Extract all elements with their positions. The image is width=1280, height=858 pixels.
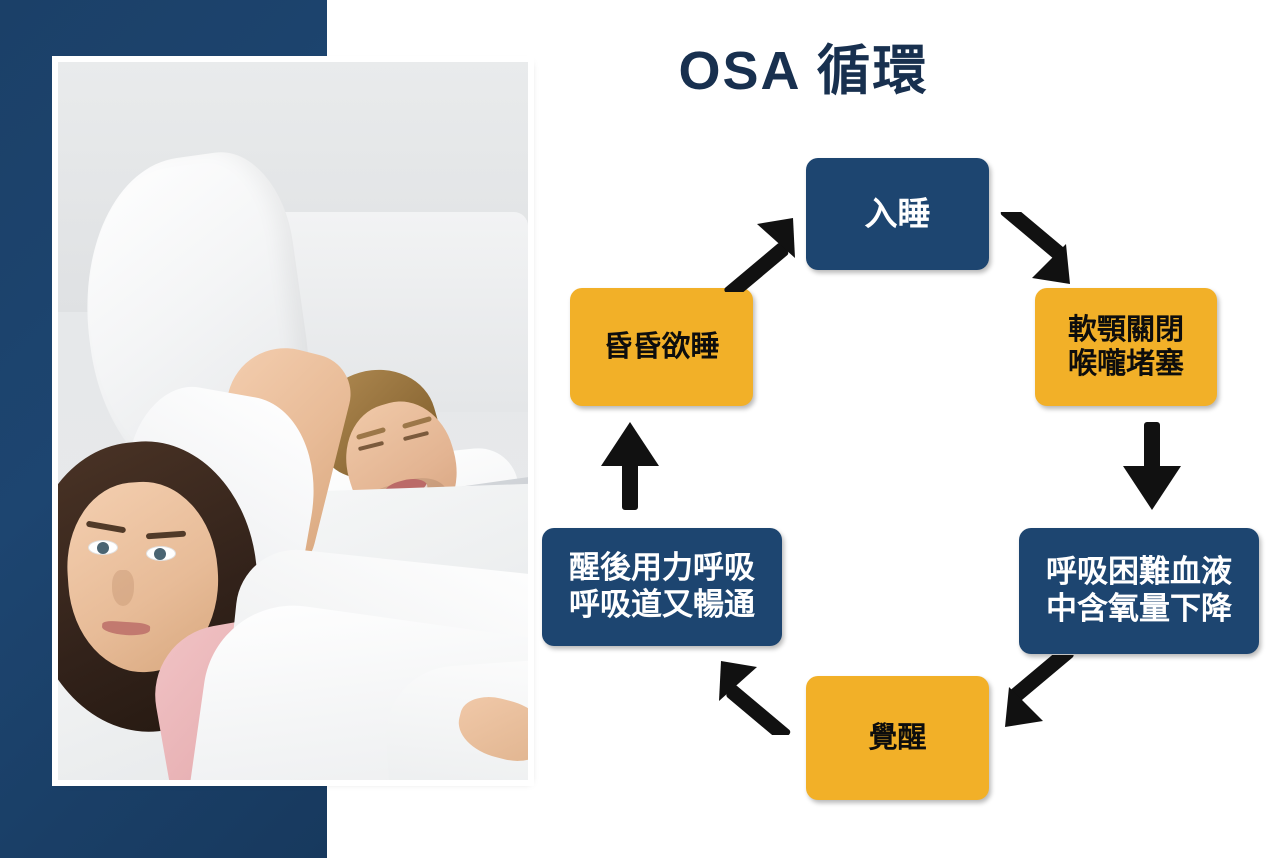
page-title: OSA 循環 <box>327 26 1280 105</box>
arrow-up-right-icon <box>715 212 805 292</box>
cycle-step-sleep-label: 入睡 <box>865 195 931 234</box>
arrow-up-icon <box>595 420 665 512</box>
arrow-down-left-icon <box>995 655 1085 735</box>
cycle-step-palate[interactable]: 軟顎關閉 喉嚨堵塞 <box>1035 288 1217 406</box>
cycle-step-sleep[interactable]: 入睡 <box>806 158 989 270</box>
diagram-content-area: OSA 循環 入睡 軟顎關閉 喉嚨堵塞 呼吸困難血液 中含氧量下降 覺醒 醒後用… <box>327 0 1280 858</box>
photo-woman-pupil-left <box>97 542 109 554</box>
cycle-step-oxygen-label: 呼吸困難血液 中含氧量下降 <box>1046 554 1232 627</box>
photo-woman-pupil-right <box>154 548 166 560</box>
cycle-step-arousal[interactable]: 覺醒 <box>806 676 989 800</box>
cycle-step-oxygen[interactable]: 呼吸困難血液 中含氧量下降 <box>1019 528 1259 654</box>
cycle-step-drowsy[interactable]: 昏昏欲睡 <box>570 288 753 406</box>
arrow-down-right-icon <box>990 212 1080 292</box>
arrow-up-left-icon <box>709 655 799 735</box>
cycle-step-breathe-label: 醒後用力呼吸 呼吸道又暢通 <box>569 550 755 623</box>
cycle-step-palate-label: 軟顎關閉 喉嚨堵塞 <box>1068 313 1184 381</box>
cycle-step-drowsy-label: 昏昏欲睡 <box>603 330 719 364</box>
cycle-step-arousal-label: 覺醒 <box>868 721 926 755</box>
cycle-step-breathe[interactable]: 醒後用力呼吸 呼吸道又暢通 <box>542 528 782 646</box>
photo-woman-nose <box>112 570 134 606</box>
arrow-down-icon <box>1117 420 1187 512</box>
